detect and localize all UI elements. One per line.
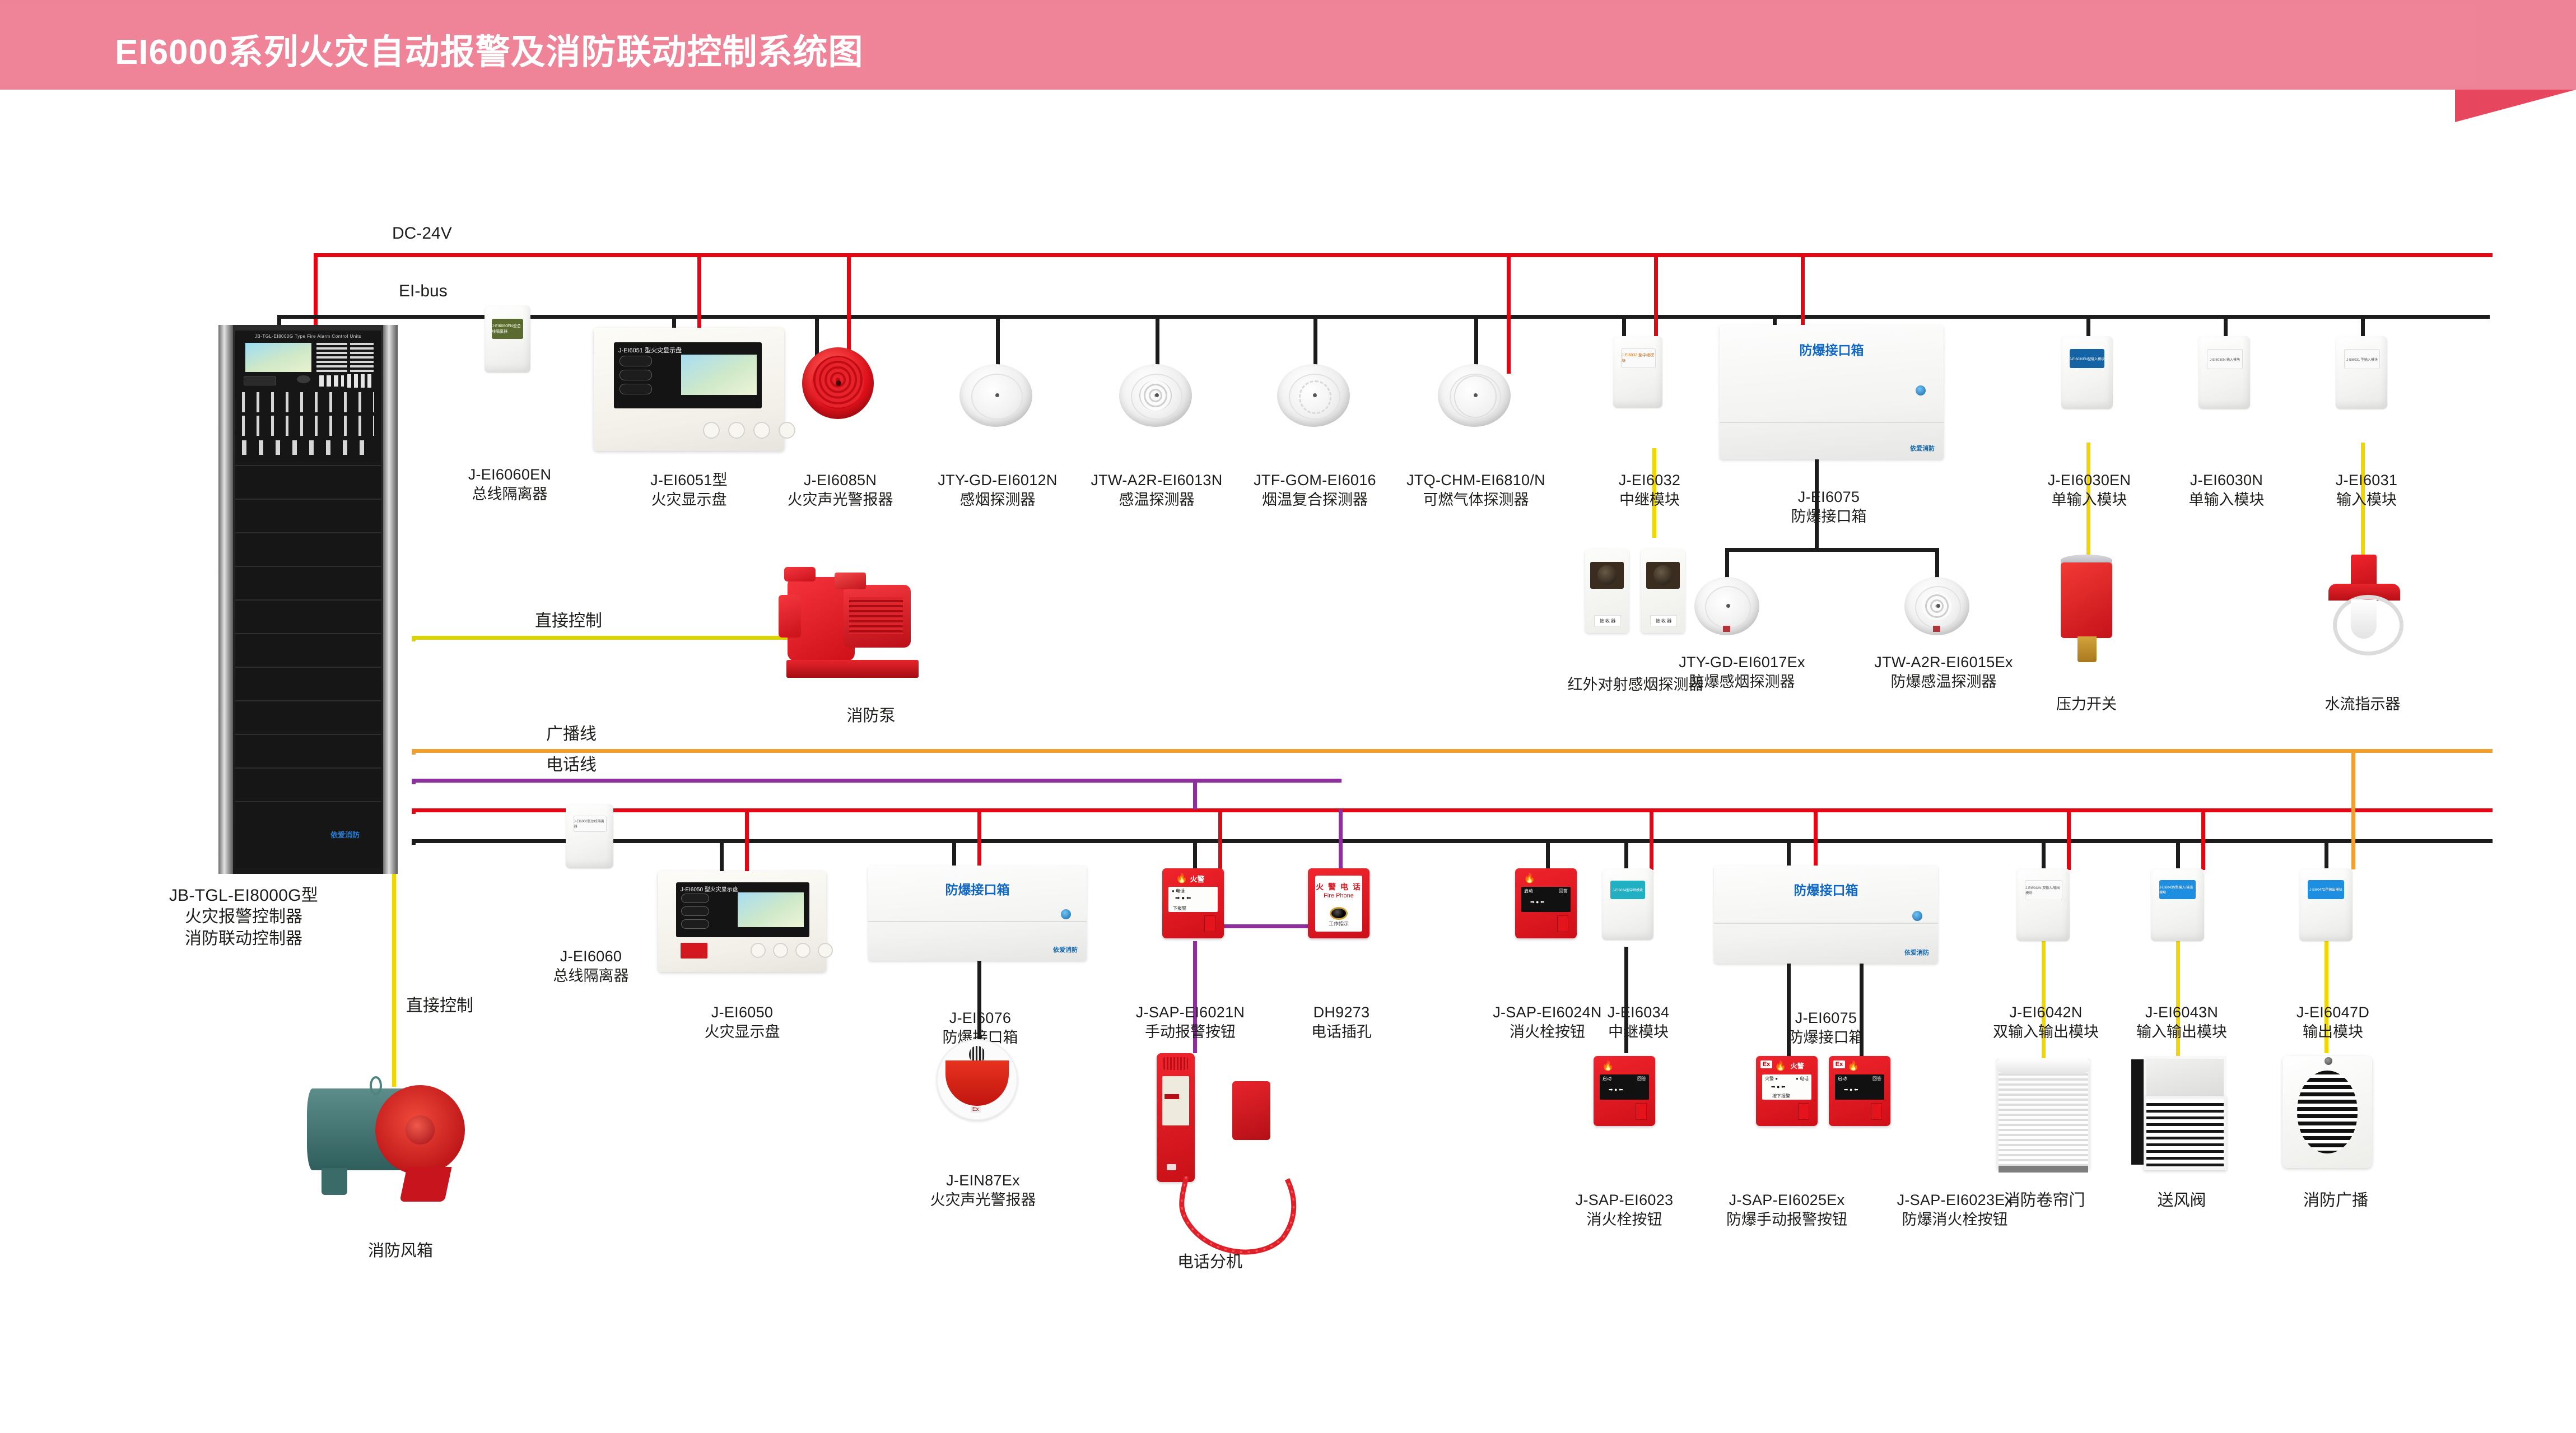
label-combo-6016: JTF-GOM-EI6016 烟温复合探测器 <box>1238 471 1392 509</box>
direct-control-pump-line <box>412 636 837 640</box>
expbox-bot-brand: 依爱消防 <box>1904 948 1929 957</box>
device-gas-detector-6810n[interactable] <box>1438 364 1511 427</box>
name-87ex: 火灾声光警报器 <box>913 1190 1053 1210</box>
drop-gas-6810n-red <box>1507 253 1511 374</box>
telephone-line-label: 电话线 <box>546 751 597 775</box>
exsounder-ex-badge: Ex <box>971 1106 981 1113</box>
fan-lift-ring <box>370 1076 382 1095</box>
device-hydrant-button-6023[interactable]: 🔥 启动 回答 ➡ ● ⬅ <box>1594 1056 1655 1126</box>
device-repeater-module-6032[interactable]: J-EI6032 型中继模块 <box>1613 336 1662 408</box>
dh9273-cn-label: 火 警 电 话 <box>1316 881 1362 892</box>
mod6032-nameplate: J-EI6032 型中继模块 <box>1621 348 1656 368</box>
fdp6050-buttons[interactable] <box>751 943 833 958</box>
fdp6050-certification-mark <box>681 943 707 959</box>
name-6051: 火灾显示盘 <box>613 490 765 510</box>
mcp6023-reset-slot[interactable] <box>1636 1103 1647 1120</box>
code-6016: JTF-GOM-EI6016 <box>1238 471 1392 490</box>
system-diagram-page: EI6000系列火灾自动报警及消防联动控制系统图 DC-24V EI-bus 直… <box>0 0 2576 1433</box>
speaker-grille-mesh <box>2297 1071 2358 1153</box>
mod6047d-nameplate: J-EI6047D型输出模块 <box>2308 880 2344 899</box>
page-title: EI6000系列火灾自动报警及消防联动控制系统图 <box>115 24 864 74</box>
mcp6025ex-flame-icon: 🔥 <box>1774 1060 1786 1072</box>
drop-6021n-red <box>1218 808 1222 870</box>
code-6031: J-EI6031 <box>2313 471 2420 490</box>
drop-6075b-red <box>1814 808 1818 867</box>
mcp6024n-start: 启动 <box>1524 888 1533 894</box>
cabinet-seam-9 <box>235 734 381 735</box>
fdp6051-buttons[interactable] <box>703 422 795 439</box>
drop-6034-red <box>1650 808 1653 870</box>
name-broadcast: 消防广播 <box>2285 1190 2386 1211</box>
smoke-6012n-led <box>995 393 999 397</box>
expbox-bot-lock[interactable] <box>1912 911 1922 921</box>
mod6042n-nameplate: J-EI6042N 双输入/输出模块 <box>2025 880 2062 900</box>
label-bus-isolator-6060: J-EI6060 总线隔离器 <box>521 947 661 985</box>
code-6030en: J-EI6030EN <box>2030 471 2148 490</box>
direct-control-top-label: 直接控制 <box>535 607 602 631</box>
expbox-6075-branch <box>1725 548 1938 552</box>
name-6012n: 感烟探测器 <box>923 490 1072 510</box>
fire-pump-terminal-box <box>835 573 866 589</box>
dh9273-jack-hole[interactable] <box>1330 907 1348 920</box>
code-6013n: JTW-A2R-EI6013N <box>1078 471 1235 490</box>
code-dh9273: DH9273 <box>1283 1003 1400 1022</box>
mcp6021n-flame-icon: 🔥 <box>1176 873 1187 884</box>
code-6051: J-EI6051型 <box>613 471 765 490</box>
mcp6025ex-huo-label: 火警 <box>1791 1061 1804 1071</box>
fdp6051-button-pagedown[interactable] <box>753 422 770 439</box>
cabinet-keypad-right[interactable] <box>347 374 374 388</box>
cabinet-seam-3 <box>235 532 381 533</box>
label-6030n: J-EI6030N 单输入模块 <box>2170 471 2282 509</box>
label-fire-broadcast: 消防广播 <box>2285 1190 2386 1211</box>
code-6042n: J-EI6042N <box>1972 1003 2120 1022</box>
shutter-roller-drum <box>1996 1058 2090 1073</box>
fire-alarm-control-cabinet[interactable]: JB-TGL-EI8000G Type Fire Alarm Control U… <box>218 325 398 874</box>
label-fire-roller-shutter: 消防卷帘门 <box>1991 1190 2098 1211</box>
name-flow-indicator: 水流指示器 <box>2307 695 2419 714</box>
mcp6024n-reset-slot[interactable] <box>1557 915 1568 932</box>
expbox-bot-seam <box>1714 923 1938 924</box>
label-6030en: J-EI6030EN 单输入模块 <box>2030 471 2148 509</box>
fdp6051-screen-title: J-EI6051 型火灾显示盘 <box>618 346 682 355</box>
dh9273-hint-label: 工作指示 <box>1329 920 1349 927</box>
drop-6050-red <box>745 808 749 873</box>
mcp6023ex-reset-slot[interactable] <box>1871 1103 1882 1120</box>
device-bus-isolator-6060[interactable]: J-EI6060型总线隔离器 <box>566 804 613 868</box>
isolator-6060en-nameplate: J-EI6060EN型总线隔离器 <box>492 319 523 339</box>
expbox-6076-seam <box>868 921 1087 922</box>
code-6030n: J-EI6030N <box>2170 471 2282 490</box>
name-6025ex: 防爆手动报警按钮 <box>1697 1210 1876 1230</box>
device-repeater-module-6034[interactable]: J-EI6034型中继模块 <box>1602 868 1653 940</box>
mcp6024n-window[interactable]: 启动 回答 ➡ ● ⬅ <box>1521 887 1571 912</box>
ei-bus-label: EI-bus <box>399 282 448 301</box>
banner-fold-corner <box>2455 90 2576 122</box>
name-air-valve: 送风阀 <box>2140 1190 2224 1211</box>
fdp6051-button-silence[interactable] <box>779 422 795 439</box>
fan-hub <box>406 1115 434 1144</box>
ei-bus-line <box>277 315 2490 319</box>
beam-tx-lens <box>1590 562 1623 589</box>
drop-6042n-red <box>2067 808 2071 870</box>
beam-rx-lens <box>1646 562 1679 589</box>
code-6075-bot: J-EI6075 <box>1764 1008 1888 1028</box>
fire-pump-base <box>786 660 919 678</box>
direct-control-fan-line <box>392 874 396 1087</box>
cabinet-left-pillar <box>218 325 233 874</box>
cabinet-seam-5 <box>235 599 381 601</box>
code-6015ex: JTW-A2R-EI6015Ex <box>1860 653 2028 672</box>
fdp6051-key-1[interactable] <box>619 370 652 380</box>
branch-ex-heat <box>1935 548 1939 579</box>
label-water-flow-indicator: 水流指示器 <box>2307 695 2419 714</box>
name-6030en: 单输入模块 <box>2030 490 2148 510</box>
code-6050: J-EI6050 <box>672 1003 812 1022</box>
label-6047d: J-EI6047D 输出模块 <box>2274 1003 2392 1041</box>
mcp6021n-reset-slot[interactable] <box>1204 915 1215 932</box>
device-fire-broadcast-speaker[interactable] <box>2282 1056 2372 1168</box>
name-telephone-extension: 电话分机 <box>1159 1252 1260 1273</box>
drop-6047d-black <box>2325 839 2328 870</box>
cabinet-printer-slot[interactable] <box>244 376 276 385</box>
cabinet-right-pillar <box>383 325 398 874</box>
brand-logo-cabinet: 依爱消防 <box>330 829 360 840</box>
drop-6076-red <box>977 808 981 867</box>
device-ex-smoke-detector-6017ex[interactable] <box>1694 577 1759 635</box>
device-dual-io-module-6042n[interactable]: J-EI6042N 双输入/输出模块 <box>2016 868 2070 941</box>
drop-6050-black <box>720 839 724 873</box>
name-6017ex: 防爆感烟探测器 <box>1661 672 1823 692</box>
telephone-cradle[interactable] <box>1232 1081 1270 1140</box>
combo-6016-vents <box>1299 380 1331 414</box>
name-6023: 消火栓按钮 <box>1554 1210 1694 1230</box>
title-banner: EI6000系列火灾自动报警及消防联动控制系统图 <box>0 0 2576 90</box>
name-6042n: 双输入输出模块 <box>1972 1022 2120 1042</box>
device-ex-interface-box-6075-bottom[interactable]: 防爆接口箱 依爱消防 <box>1714 866 1938 964</box>
dc24v-label: DC-24V <box>392 224 452 243</box>
cab-orange-tap <box>412 749 416 755</box>
expbox-top-seam <box>1720 422 1944 423</box>
label-repeater-6034: J-EI6034 中继模块 <box>1585 1003 1692 1041</box>
name-6050: 火灾显示盘 <box>672 1022 812 1042</box>
label-ex-smoke-6017ex: JTY-GD-EI6017Ex 防爆感烟探测器 <box>1661 653 1823 691</box>
mod6034-nameplate: J-EI6034型中继模块 <box>1610 881 1646 899</box>
expbox-top-title: 防爆接口箱 <box>1720 339 1944 359</box>
device-output-module-6047d[interactable]: J-EI6047D型输出模块 <box>2299 868 2353 941</box>
cabinet-lcd-screen <box>245 343 311 372</box>
expbox-top-lock[interactable] <box>1916 385 1926 396</box>
ex-heat-led <box>1936 604 1940 608</box>
cabinet-zone-leds-2 <box>242 416 374 436</box>
dc24v-bus-line <box>314 253 2493 257</box>
bottom-ei-bus-line <box>412 839 2493 843</box>
cabinet-seam-6 <box>235 633 381 634</box>
gas-6810n-led <box>1474 393 1478 397</box>
broadcast-line-label: 广播线 <box>546 720 597 745</box>
drop-6076-black <box>952 839 956 867</box>
code-6017ex: JTY-GD-EI6017Ex <box>1661 653 1823 672</box>
mcp6023-flame-icon: 🔥 <box>1602 1060 1614 1072</box>
mcp6023ex-flame-icon: 🔥 <box>1847 1060 1859 1072</box>
name-6047d: 输出模块 <box>2274 1022 2392 1042</box>
name-fire-pump: 消防泵 <box>826 706 916 727</box>
device-beam-smoke-detector-tx[interactable]: 接 收 器 <box>1585 549 1629 633</box>
fdp6050-button-menu[interactable] <box>751 943 766 958</box>
name-6075-top: 防爆接口箱 <box>1759 507 1899 527</box>
mcp6025ex-ex-badge: Ex <box>1760 1060 1772 1068</box>
drop-6021n-black <box>1193 839 1197 870</box>
fdp6051-bezel: J-EI6051 型火灾显示盘 <box>614 342 762 408</box>
cabinet-seam-7 <box>235 667 381 668</box>
label-ex-mcp-6025ex: J-SAP-EI6025Ex 防爆手动报警按钮 <box>1697 1190 1876 1229</box>
device-hydrant-button-6024n[interactable]: 🔥 启动 回答 ➡ ● ⬅ <box>1515 868 1577 938</box>
name-6810n: 可燃气体探测器 <box>1384 490 1568 510</box>
code-6810n: JTQ-CHM-EI6810/N <box>1384 471 1568 490</box>
drop-6060-black <box>613 839 617 842</box>
device-fire-display-panel-6050[interactable]: J-EI6050 型火灾显示盘 <box>658 871 826 972</box>
handset-earpiece <box>1163 1057 1188 1070</box>
cabinet-keypad-left[interactable] <box>319 375 344 387</box>
branch-ex-smoke <box>1725 548 1729 579</box>
drop-6043n-black <box>2176 839 2180 870</box>
iso6060-nameplate: J-EI6060型总线隔离器 <box>574 816 607 832</box>
name-6060en: 总线隔离器 <box>434 485 585 504</box>
label-repeater-6032: J-EI6032 中继模块 <box>1594 471 1706 509</box>
code-6034: J-EI6034 <box>1585 1003 1692 1022</box>
mcp6025ex-reset-slot[interactable] <box>1798 1103 1809 1120</box>
drop-6034-black <box>1624 839 1628 870</box>
device-ex-manual-call-point-6025ex[interactable]: Ex 🔥 火警 火警 ● ● 电话 ➡ ● ⬅ 按下报警 <box>1756 1056 1818 1126</box>
mcp6024n-answer: 回答 <box>1559 888 1568 894</box>
handset-hook-button[interactable] <box>1167 1164 1177 1171</box>
ex-heat-ex-badge <box>1933 626 1940 632</box>
mod6030en-nameplate: J-EI6030EN型输入模块 <box>2070 349 2105 368</box>
device-beam-smoke-detector-rx[interactable]: 接 收 器 <box>1641 549 1685 633</box>
fire-pump-flange-top <box>784 567 816 581</box>
code-6043n: J-EI6043N <box>2117 1003 2246 1022</box>
cabinet-led-bank-left <box>316 343 347 372</box>
device-ex-interface-box-6075-top[interactable]: 防爆接口箱 依爱消防 <box>1720 325 1944 459</box>
device-io-module-6043n[interactable]: J-EI6043N型输入/输出模块 <box>2151 868 2204 941</box>
phone-branch-6021n <box>1193 779 1197 809</box>
fdp6050-button-pagedown[interactable] <box>795 943 810 958</box>
fire-pump-motor-fins <box>849 597 903 634</box>
cabinet-trackball[interactable] <box>297 375 310 383</box>
code-6076: J-EI6076 <box>919 1008 1042 1028</box>
code-87ex: J-EIN87Ex <box>913 1171 1053 1190</box>
device-fire-pump[interactable] <box>779 560 941 689</box>
mcp6021n-window[interactable]: ● 电话 ➡ ● ⬅ 下报警 <box>1168 887 1218 912</box>
fdp6051-key-0[interactable] <box>619 356 652 366</box>
handset-dip-switch[interactable] <box>1164 1094 1178 1100</box>
speaker-mount-screw <box>2325 1057 2332 1065</box>
code-6060en: J-EI6060EN <box>434 465 585 485</box>
device-heat-detector-6013n[interactable] <box>1119 364 1192 427</box>
fdp6050-key-0[interactable] <box>681 894 709 903</box>
pressure-switch-body <box>2061 562 2112 638</box>
label-expbox-6075-top: J-EI6075 防爆接口箱 <box>1759 487 1899 526</box>
label-ex-sounder-87ex: J-EIN87Ex 火灾声光警报器 <box>913 1171 1053 1209</box>
device-smoke-detector-6012n[interactable] <box>959 364 1032 427</box>
direct-control-bottom-label: 直接控制 <box>406 992 473 1016</box>
device-manual-call-point-6021n[interactable]: 🔥 火警 ● 电话 ➡ ● ⬅ 下报警 <box>1162 868 1224 938</box>
label-6043n: J-EI6043N 输入输出模块 <box>2117 1003 2246 1041</box>
expbox-6076-title: 防爆接口箱 <box>868 879 1087 898</box>
label-pressure-switch: 压力开关 <box>2042 695 2131 714</box>
dh9273-en-label: Fire Phone <box>1324 892 1354 899</box>
fdp6050-keys[interactable] <box>681 894 709 929</box>
cabinet-face: JB-TGL-EI8000G Type Fire Alarm Control U… <box>235 331 381 868</box>
fdp6050-button-silence[interactable] <box>818 943 833 958</box>
code-6032: J-EI6032 <box>1594 471 1706 490</box>
name-fan: 消防风箱 <box>350 1241 451 1262</box>
name-6016: 烟温复合探测器 <box>1238 490 1392 510</box>
name-6085n: 火灾声光警报器 <box>767 490 913 510</box>
label-fdp-6051: J-EI6051型 火灾显示盘 <box>613 471 765 509</box>
device-fire-display-panel-6051[interactable]: J-EI6051 型火灾显示盘 <box>594 328 784 451</box>
controller-name-2: 消防联动控制器 <box>120 928 367 950</box>
name-pressure-switch: 压力开关 <box>2042 695 2131 714</box>
label-telephone-extension: 电话分机 <box>1159 1252 1260 1273</box>
handset-nameplate <box>1162 1076 1190 1125</box>
label-sounder-6085n: J-EI6085N 火灾声光警报器 <box>767 471 913 509</box>
name-6043n: 输入输出模块 <box>2117 1022 2246 1042</box>
device-telephone-extension-handset[interactable] <box>1157 1053 1195 1182</box>
exsounder-red-lens <box>945 1060 1009 1106</box>
device-input-module-6031[interactable]: J-EI6031 型输入模块 <box>2336 336 2387 409</box>
fdp6051-lcd <box>681 355 757 395</box>
label-bus-isolator-6060en: J-EI6060EN 总线隔离器 <box>434 465 585 504</box>
cab-black-tap <box>412 839 416 845</box>
label-mcp-6021n: J-SAP-EI6021N 手动报警按钮 <box>1115 1003 1266 1041</box>
name-6034: 中继模块 <box>1585 1022 1692 1042</box>
code-6085n: J-EI6085N <box>767 471 913 490</box>
mod6031-nameplate: J-EI6031 型输入模块 <box>2344 349 2381 369</box>
expbox-6076-lock[interactable] <box>1061 909 1071 919</box>
label-fire-pump: 消防泵 <box>826 706 916 727</box>
device-ex-sounder-87ex[interactable]: Ex <box>937 1039 1018 1120</box>
label-6031: J-EI6031 输入模块 <box>2313 471 2420 509</box>
name-6023ex: 防爆消火栓按钮 <box>1871 1210 2039 1230</box>
name-6075-bot: 防爆接口箱 <box>1764 1028 1888 1048</box>
cabinet-model-line: JB-TGL-EI8000G Type Fire Alarm Control U… <box>235 334 381 339</box>
code-6047d: J-EI6047D <box>2274 1003 2392 1022</box>
expbox-6076-brand: 依爱消防 <box>1053 945 1078 954</box>
device-ex-interface-box-6076[interactable]: 防爆接口箱 依爱消防 <box>868 866 1087 961</box>
drop-6043n-red <box>2201 808 2205 870</box>
name-roller-shutter: 消防卷帘门 <box>1991 1190 2098 1211</box>
device-smoke-exhaust-fan[interactable] <box>302 1073 482 1207</box>
cabinet-seam-2 <box>235 499 381 500</box>
ex-smoke-ex-badge <box>1723 626 1730 632</box>
dh9273-faceplate: 火 警 电 话 Fire Phone 工作指示 <box>1315 876 1362 932</box>
device-pressure-switch[interactable] <box>2058 555 2114 667</box>
device-ex-heat-detector-6015ex[interactable] <box>1904 577 1969 635</box>
out-6042n-shutter <box>2042 941 2046 1062</box>
label-gas-6810n: JTQ-CHM-EI6810/N 可燃气体探测器 <box>1384 471 1568 509</box>
fdp6050-button-pageup[interactable] <box>773 943 788 958</box>
pressure-switch-thread <box>2077 636 2097 662</box>
mcp6023-window[interactable]: 启动 回答 ➡ ● ⬅ <box>1600 1074 1649 1100</box>
telephone-line <box>412 779 1341 783</box>
mod6043n-nameplate: J-EI6043N型输入/输出模块 <box>2159 880 2196 899</box>
device-ex-hydrant-button-6023ex[interactable]: Ex 🔥 启动 回答 ➡ ● ⬅ <box>1829 1056 1890 1126</box>
mcp6024n-flame-icon: 🔥 <box>1524 873 1535 884</box>
label-expbox-6075-bottom: J-EI6075 防爆接口箱 <box>1764 1008 1888 1047</box>
cabinet-seam-4 <box>235 566 381 567</box>
sounder-6085n-center <box>836 380 841 386</box>
beam-tx-tag: 接 收 器 <box>1594 615 1622 626</box>
expbox-bot-title: 防爆接口箱 <box>1714 880 1938 899</box>
fan-foot-right <box>399 1167 451 1202</box>
fdp6050-lcd <box>738 892 804 927</box>
device-combined-detector-6016[interactable] <box>1277 364 1350 427</box>
fan-foot-left <box>322 1168 347 1195</box>
label-hydrant-6023: J-SAP-EI6023 消火栓按钮 <box>1554 1190 1694 1229</box>
name-6030n: 单输入模块 <box>2170 490 2282 510</box>
device-fire-roller-shutter[interactable] <box>1997 1059 2090 1169</box>
device-single-input-module-6030en[interactable]: J-EI6030EN型输入模块 <box>2061 336 2113 409</box>
beam-rx-tag: 接 收 器 <box>1650 615 1678 626</box>
device-bus-isolator-6060en[interactable]: J-EI6060EN型总线隔离器 <box>485 305 530 373</box>
cab-purple-tap <box>412 779 416 784</box>
cabinet-switch-bank[interactable] <box>242 440 374 455</box>
fdp6051-button-selftest[interactable] <box>703 422 720 439</box>
cabinet-seam-11 <box>235 801 381 802</box>
drop-6042n-black <box>2042 839 2046 870</box>
ex-smoke-led <box>1726 604 1730 608</box>
cab-yellow-tap <box>412 636 416 641</box>
device-air-supply-valve[interactable] <box>2131 1056 2224 1168</box>
fdp6050-key-1[interactable] <box>681 906 709 916</box>
cabinet-seam-8 <box>235 700 381 701</box>
label-ex-heat-6015ex: JTW-A2R-EI6015Ex 防爆感温探测器 <box>1860 653 2028 691</box>
label-fdp-6050: J-EI6050 火灾显示盘 <box>672 1003 812 1041</box>
fan-impeller <box>375 1085 465 1175</box>
valve-louvers <box>2144 1096 2226 1170</box>
flow-indicator-head <box>2351 555 2377 588</box>
cab-red-tap <box>412 808 416 814</box>
device-sounder-beacon-6085n[interactable] <box>802 347 874 419</box>
combo-6016-led <box>1313 393 1317 397</box>
label-dh9273: DH9273 电话插孔 <box>1283 1003 1400 1041</box>
device-water-flow-indicator[interactable] <box>2316 555 2411 667</box>
fdp6050-screen-title: J-EI6050 型火灾显示盘 <box>681 885 738 893</box>
mcp6025ex-window[interactable]: 火警 ● ● 电话 ➡ ● ⬅ 按下报警 <box>1762 1074 1811 1100</box>
name-dh9273: 电话插孔 <box>1283 1022 1400 1042</box>
device-fire-phone-jack-dh9273[interactable]: 火 警 电 话 Fire Phone 工作指示 <box>1308 868 1369 938</box>
fdp6051-keys[interactable] <box>619 356 652 394</box>
label-heat-6013n: JTW-A2R-EI6013N 感温探测器 <box>1078 471 1235 509</box>
drop-6024n-black <box>1546 839 1550 870</box>
fdp6051-button-pageup[interactable] <box>728 422 745 439</box>
label-smoke-exhaust-fan: 消防风箱 <box>350 1241 451 1262</box>
code-6021n: J-SAP-EI6021N <box>1115 1003 1266 1022</box>
mcp6023ex-window[interactable]: 启动 回答 ➡ ● ⬅ <box>1835 1074 1884 1100</box>
shutter-floor <box>1999 1166 2088 1173</box>
cabinet-seam-1 <box>235 465 381 466</box>
fdp6050-key-2[interactable] <box>681 919 709 929</box>
label-air-supply-valve: 送风阀 <box>2140 1190 2224 1211</box>
mod6030n-nameplate: J-EI6030N 输入模块 <box>2207 349 2243 369</box>
heat-6013n-led <box>1155 393 1159 397</box>
code-6025ex: J-SAP-EI6025Ex <box>1697 1190 1876 1210</box>
fdp6051-key-2[interactable] <box>619 384 652 394</box>
device-single-input-module-6030n[interactable]: J-EI6030N 输入模块 <box>2198 336 2250 409</box>
name-6013n: 感温探测器 <box>1078 490 1235 510</box>
controller-label: JB-TGL-EI8000G型 火灾报警控制器 消防联动控制器 <box>120 885 367 950</box>
